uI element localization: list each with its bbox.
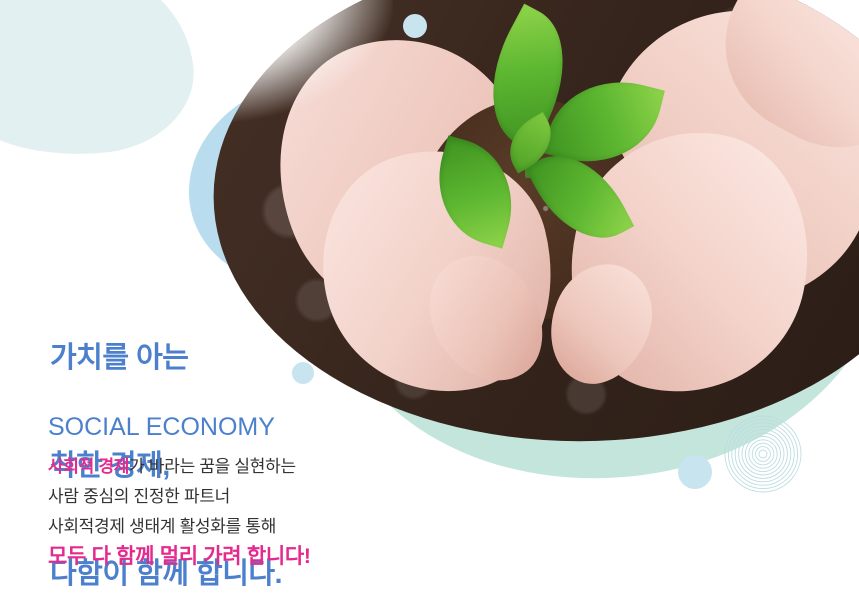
decorative-dot-lower (678, 455, 712, 489)
decorative-blob-top-left (0, 0, 201, 169)
body-line-1-rest: 가 바라는 꿈을 실현하는 (129, 457, 296, 476)
decorative-dot-middle (292, 362, 314, 384)
subhead-social-economy: SOCIAL ECONOMY (48, 413, 275, 442)
body-line-1-emphasis: 사회적 경제 (48, 457, 129, 476)
headline-line-1: 가치를 아는 (50, 340, 282, 376)
body-line-1: 사회적 경제가 바라는 꿈을 실현하는 (48, 452, 311, 482)
promo-banner: 가치를 아는 착한 경제, 다함이 함께 합니다. SOCIAL ECONOMY… (0, 0, 859, 612)
photo-highlight-fade (186, 0, 393, 122)
body-line-3: 사회적경제 생태계 활성화를 통해 (48, 512, 311, 542)
body-line-4: 모두 다 함께 멀리 가려 합니다! (48, 542, 311, 572)
concentric-rings-icon (724, 415, 802, 493)
decorative-dot-top (403, 14, 427, 38)
body-line-2: 사람 중심의 진정한 파트너 (48, 482, 311, 512)
hero-photo (186, 0, 859, 460)
body-copy: 사회적 경제가 바라는 꿈을 실현하는 사람 중심의 진정한 파트너 사회적경제… (48, 452, 311, 572)
